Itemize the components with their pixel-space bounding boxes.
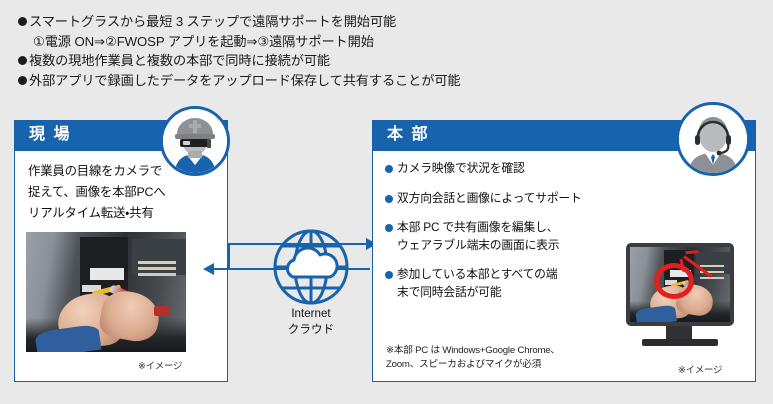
list-item: 参加している本部とすべての端 末で同時会話が可能 (385, 266, 585, 301)
photo-terminal-block-shape (138, 261, 176, 265)
list-item-label: 双方向会話と画像によってサポート (397, 190, 582, 208)
list-item: カメラ映像で状況を確認 (385, 160, 585, 178)
bullet-text: 複数の現地作業員と複数の本部で同時に接続が可能 (29, 51, 330, 71)
filled-circle-bullet-icon (18, 17, 27, 26)
filled-circle-bullet-icon (18, 56, 27, 65)
bullet-text: 外部アプリで録画したデータをアップロード保存して共有することが可能 (29, 71, 461, 91)
blue-circle-bullet-icon (385, 271, 393, 279)
filled-circle-bullet-icon (18, 76, 27, 85)
internet-cloud-label: Internet クラウド (252, 306, 370, 338)
blue-circle-bullet-icon (385, 165, 393, 173)
photo-red-part-shape (154, 306, 170, 316)
blue-circle-bullet-icon (385, 195, 393, 203)
field-site-photo (26, 232, 186, 352)
worker-with-smartglass-icon (163, 109, 227, 173)
connector-stub-left (228, 243, 230, 270)
headquarters-bullet-list: カメラ映像で状況を確認 双方向会話と画像によってサポート 本部 PC で共有画像… (385, 160, 585, 313)
headquarters-image-caption: ※イメージ (678, 362, 722, 376)
arrow-left-head-icon (203, 263, 214, 275)
feature-bullet-list: スマートグラスから最短 3 ステップで遠隔サポートを開始可能 ①電源 ON⇒②F… (18, 12, 758, 90)
headquarters-requirement-note: ※本部 PC は Windows+Google Chrome、 Zoom、スピー… (386, 344, 636, 372)
list-item: 双方向会話と画像によってサポート (385, 190, 585, 208)
bullet-item: 外部アプリで録画したデータをアップロード保存して共有することが可能 (18, 71, 758, 91)
globe-cloud-icon (252, 228, 370, 306)
list-item-label: カメラ映像で状況を確認 (397, 160, 525, 178)
monitor-stand-base (642, 339, 718, 346)
headquarters-monitor (626, 243, 742, 355)
photo-label-shape (90, 268, 124, 280)
list-item-label: 本部 PC で共有画像を編集し、 ウェアラブル端末の画面に表示 (397, 219, 559, 254)
bullet-subtext: ①電源 ON⇒②FWOSP アプリを起動⇒③遠隔サポート開始 (18, 32, 758, 52)
bullet-item: スマートグラスから最短 3 ステップで遠隔サポートを開始可能 (18, 12, 758, 32)
monitor-screen (630, 247, 730, 322)
operator-with-headset-icon (679, 105, 747, 173)
bullet-item: 複数の現地作業員と複数の本部で同時に接続が可能 (18, 51, 758, 71)
list-item-label: 参加している本部とすべての端 末で同時会話が可能 (397, 266, 557, 301)
field-worker-avatar (160, 106, 230, 176)
field-site-image-caption: ※イメージ (138, 358, 182, 372)
monitor-stand-neck (666, 326, 692, 340)
list-item: 本部 PC で共有画像を編集し、 ウェアラブル端末の画面に表示 (385, 219, 585, 254)
photo-right-block-shape (132, 239, 186, 275)
monitor-bezel (626, 243, 734, 326)
field-site-photo-content (26, 232, 186, 352)
blue-circle-bullet-icon (385, 224, 393, 232)
photo-terminal-block-shape (700, 265, 724, 267)
annotation-circle-icon (654, 263, 694, 299)
operator-avatar (676, 102, 750, 176)
bullet-text: スマートグラスから最短 3 ステップで遠隔サポートを開始可能 (29, 12, 396, 32)
diagram-canvas: スマートグラスから最短 3 ステップで遠隔サポートを開始可能 ①電源 ON⇒②F… (0, 0, 773, 404)
internet-cloud-group: Internet クラウド (252, 228, 370, 348)
